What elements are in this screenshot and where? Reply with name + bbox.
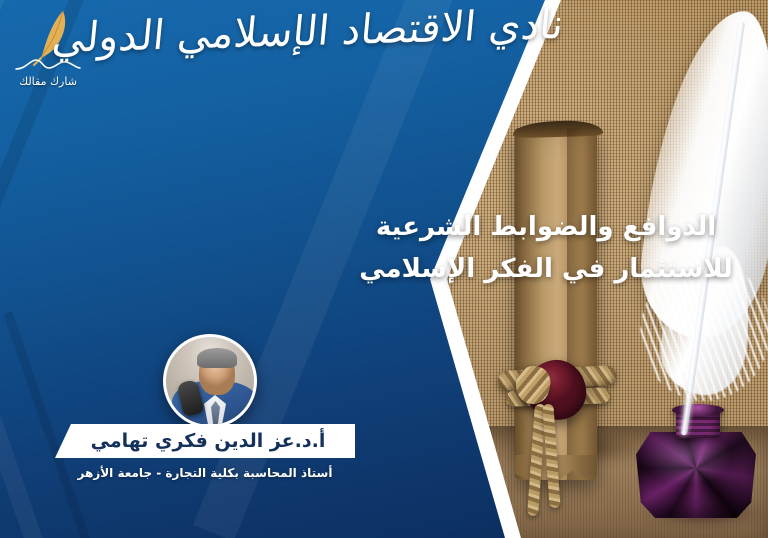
avatar-hair	[197, 348, 237, 368]
speaker-affiliation: أستاذ المحاسبة بكلية التجارة - جامعة الأ…	[55, 466, 355, 480]
poster-canvas: شارك مقالك نادي الاقتصاد الإسلامي الدولي…	[0, 0, 768, 538]
title-line-2: للاستثمار في الفكر الإسلامي	[346, 248, 746, 290]
speaker-name-banner: أ.د.عز الدين فكري تهامي	[55, 424, 355, 458]
parchment-scroll-image	[515, 128, 597, 480]
speaker-name: أ.د.عز الدين فكري تهامي	[85, 430, 326, 452]
speaker-avatar	[163, 334, 257, 428]
logo-tagline: شارك مقالك	[10, 76, 86, 88]
title-line-1: الدوافع والضوابط الشرعية	[346, 206, 746, 248]
poster-title: الدوافع والضوابط الشرعية للاستثمار في ال…	[346, 206, 746, 290]
